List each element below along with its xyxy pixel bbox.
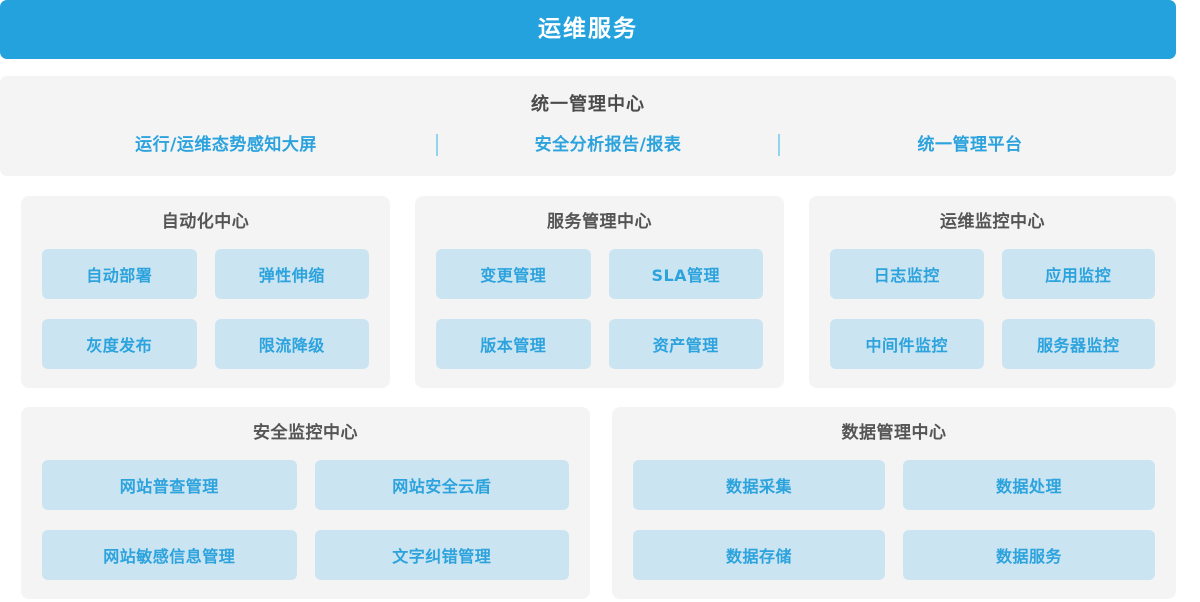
chip-website-census-management[interactable]: 网站普查管理	[42, 460, 297, 510]
chip-version-management[interactable]: 版本管理	[436, 319, 591, 369]
chip-asset-management[interactable]: 资产管理	[609, 319, 764, 369]
chip-auto-deploy[interactable]: 自动部署	[42, 249, 197, 299]
chip-server-monitoring[interactable]: 服务器监控	[1002, 319, 1156, 369]
chip-data-service[interactable]: 数据服务	[903, 530, 1155, 580]
chip-rate-limit-degrade[interactable]: 限流降级	[215, 319, 370, 369]
unified-management-center-band: 统一管理中心 运行/运维态势感知大屏 安全分析报告/报表 统一管理平台	[0, 76, 1176, 176]
chip-grid-data-management-center: 数据采集 数据处理 数据存储 数据服务	[612, 460, 1176, 580]
panel-title-data-management-center: 数据管理中心	[842, 425, 947, 442]
page-title: 运维服务	[538, 18, 638, 41]
chip-elastic-scaling[interactable]: 弹性伸缩	[215, 249, 370, 299]
mgmt-link-situation-dashboard[interactable]: 运行/运维态势感知大屏	[16, 137, 436, 154]
chip-sla-management[interactable]: SLA管理	[609, 249, 764, 299]
chip-grid-service-management-center: 变更管理 SLA管理 版本管理 资产管理	[415, 249, 784, 369]
panel-service-management-center: 服务管理中心 变更管理 SLA管理 版本管理 资产管理	[415, 196, 784, 388]
chip-application-monitoring[interactable]: 应用监控	[1002, 249, 1156, 299]
chip-middleware-monitoring[interactable]: 中间件监控	[830, 319, 984, 369]
architecture-diagram: 运维服务 统一管理中心 运行/运维态势感知大屏 安全分析报告/报表 统一管理平台…	[0, 0, 1200, 602]
mgmt-link-security-report[interactable]: 安全分析报告/报表	[438, 137, 778, 154]
panel-data-management-center: 数据管理中心 数据采集 数据处理 数据存储 数据服务	[612, 407, 1176, 599]
chip-change-management[interactable]: 变更管理	[436, 249, 591, 299]
chip-website-security-cloud-shield[interactable]: 网站安全云盾	[315, 460, 570, 510]
chip-website-sensitive-info-management[interactable]: 网站敏感信息管理	[42, 530, 297, 580]
chip-data-storage[interactable]: 数据存储	[633, 530, 885, 580]
panel-title-service-management-center: 服务管理中心	[547, 214, 652, 231]
chip-text-correction-management[interactable]: 文字纠错管理	[315, 530, 570, 580]
chip-data-processing[interactable]: 数据处理	[903, 460, 1155, 510]
panel-title-automation-center: 自动化中心	[162, 214, 250, 231]
panel-title-security-monitoring-center: 安全监控中心	[253, 425, 358, 442]
chip-gray-release[interactable]: 灰度发布	[42, 319, 197, 369]
chip-grid-security-monitoring-center: 网站普查管理 网站安全云盾 网站敏感信息管理 文字纠错管理	[21, 460, 590, 580]
chip-grid-ops-monitoring-center: 日志监控 应用监控 中间件监控 服务器监控	[809, 249, 1176, 369]
panel-title-ops-monitoring-center: 运维监控中心	[940, 214, 1045, 231]
chip-log-monitoring[interactable]: 日志监控	[830, 249, 984, 299]
unified-management-center-title: 统一管理中心	[531, 96, 645, 114]
unified-management-center-links: 运行/运维态势感知大屏 安全分析报告/报表 统一管理平台	[0, 134, 1176, 156]
header-banner: 运维服务	[0, 0, 1176, 59]
panel-automation-center: 自动化中心 自动部署 弹性伸缩 灰度发布 限流降级	[21, 196, 390, 388]
panel-ops-monitoring-center: 运维监控中心 日志监控 应用监控 中间件监控 服务器监控	[809, 196, 1176, 388]
panel-security-monitoring-center: 安全监控中心 网站普查管理 网站安全云盾 网站敏感信息管理 文字纠错管理	[21, 407, 590, 599]
chip-grid-automation-center: 自动部署 弹性伸缩 灰度发布 限流降级	[21, 249, 390, 369]
mgmt-link-unified-platform[interactable]: 统一管理平台	[780, 137, 1160, 154]
chip-data-collection[interactable]: 数据采集	[633, 460, 885, 510]
